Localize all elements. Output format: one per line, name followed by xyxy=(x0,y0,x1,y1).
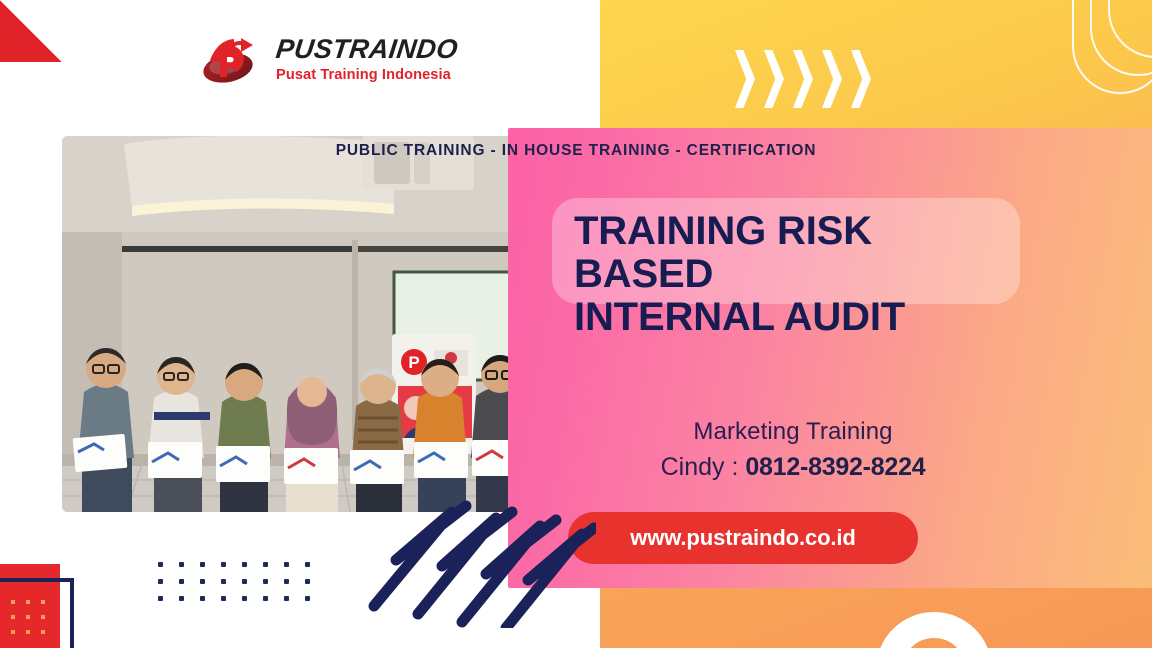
chevron-row-decoration xyxy=(735,50,871,108)
chevron-right-icon xyxy=(735,50,755,108)
concentric-arcs-decoration xyxy=(1020,0,1152,134)
banner-title-line1: TRAINING RISK BASED xyxy=(574,210,1020,296)
contact-department: Marketing Training xyxy=(434,418,1152,446)
chevron-right-icon xyxy=(822,50,842,108)
navy-frame-outline xyxy=(0,578,74,648)
brand-logo[interactable]: PUSTRAINDO Pusat Training Indonesia xyxy=(200,32,458,86)
brand-logo-text: PUSTRAINDO Pusat Training Indonesia xyxy=(276,36,458,83)
banner-subtitle: PUBLIC TRAINING - IN HOUSE TRAINING - CE… xyxy=(0,142,1152,160)
banner-title: TRAINING RISK BASED INTERNAL AUDIT xyxy=(548,196,1020,338)
contact-person-label: Cindy : xyxy=(661,453,739,481)
contact-phone-line: Cindy : 0812-8392-8224 xyxy=(434,453,1152,482)
pustraindo-globe-arrow-logo-icon xyxy=(200,32,262,86)
contact-block: Marketing Training Cindy : 0812-8392-822… xyxy=(508,418,1152,482)
banner-title-block: TRAINING RISK BASED INTERNAL AUDIT xyxy=(548,196,1020,338)
contact-phone-number[interactable]: 0812-8392-8224 xyxy=(745,453,925,481)
chevron-right-icon xyxy=(793,50,813,108)
chevron-right-icon xyxy=(851,50,871,108)
brand-tagline: Pusat Training Indonesia xyxy=(276,68,458,83)
navy-dot-grid-decoration xyxy=(150,556,318,607)
chevron-right-icon xyxy=(764,50,784,108)
website-button[interactable]: www.pustraindo.co.id xyxy=(568,512,918,564)
red-corner-triangle-icon xyxy=(0,0,62,62)
banner-title-line2: INTERNAL AUDIT xyxy=(574,296,1020,339)
svg-text:P: P xyxy=(408,353,419,372)
banner-canvas: PUSTRAINDO Pusat Training Indonesia xyxy=(0,0,1152,648)
navy-zigzag-scribble-icon xyxy=(356,488,596,628)
brand-name: PUSTRAINDO xyxy=(274,36,459,63)
